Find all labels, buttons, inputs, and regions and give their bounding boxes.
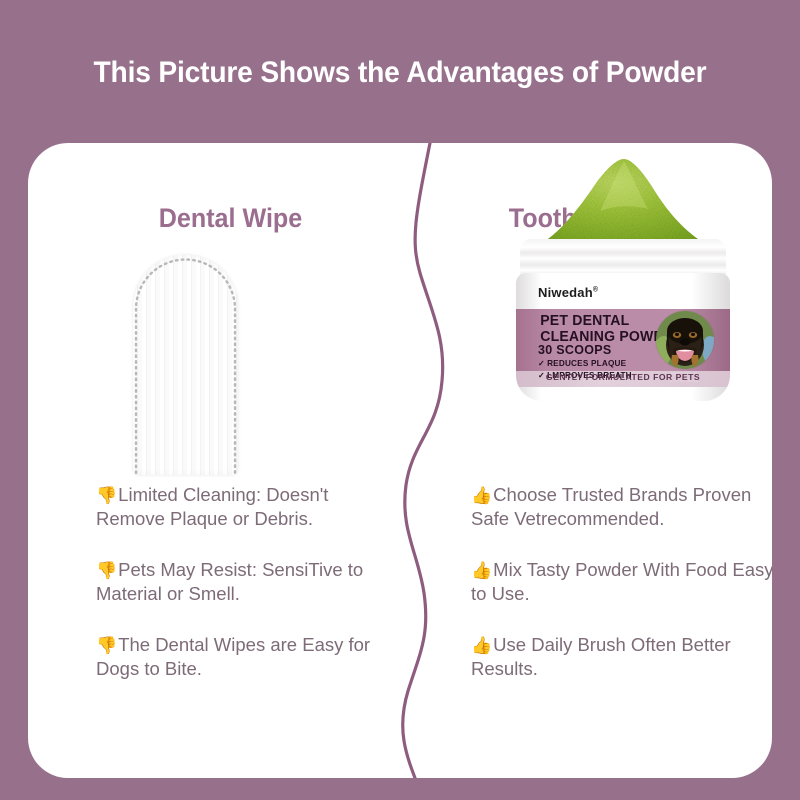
list-item: 👎Limited Cleaning: Doesn't Remove Plaque… bbox=[96, 483, 396, 532]
thumbs-down-icon: 👎 bbox=[96, 486, 117, 505]
column-heading-dental-wipe: Dental Wipe bbox=[107, 203, 353, 234]
registered-mark: ® bbox=[593, 287, 598, 294]
dental-wipe-bead-edge bbox=[133, 255, 238, 475]
thumbs-up-icon: 👍 bbox=[471, 636, 492, 655]
list-item: 👎The Dental Wipes are Easy for Dogs to B… bbox=[96, 633, 396, 682]
dental-wipe-bullet-list: 👎Limited Cleaning: Doesn't Remove Plaque… bbox=[96, 483, 396, 708]
list-item: 👎Pets May Resist: SensiTive to Material … bbox=[96, 558, 396, 607]
green-powder-mound bbox=[528, 153, 718, 249]
bullet-text: Mix Tasty Powder With Food Easy to Use. bbox=[471, 559, 772, 604]
page-title: This Picture Shows the Advantages of Pow… bbox=[24, 56, 776, 90]
bullet-text: Use Daily Brush Often Better Results. bbox=[471, 634, 731, 679]
dog-photo bbox=[656, 311, 714, 369]
bullet-text: The Dental Wipes are Easy for Dogs to Bi… bbox=[96, 634, 370, 679]
product-tagline: GENTLY FORMULATED FOR PETS bbox=[516, 372, 730, 382]
claim-row: ✓REDUCES PLAQUE bbox=[538, 358, 632, 370]
claim-text: REDUCES PLAQUE bbox=[547, 359, 626, 368]
list-item: 👍Mix Tasty Powder With Food Easy to Use. bbox=[471, 558, 772, 607]
brand-name: Niwedah bbox=[538, 285, 593, 300]
thumbs-down-icon: 👎 bbox=[96, 561, 117, 580]
check-icon: ✓ bbox=[538, 359, 545, 368]
jar-body: Niwedah® PET DENTAL CLEANING POWDER 30 S… bbox=[516, 273, 730, 401]
bullet-text: Pets May Resist: SensiTive to Material o… bbox=[96, 559, 363, 604]
bullet-text: Choose Trusted Brands Proven Safe Vetrec… bbox=[471, 484, 751, 529]
comparison-card: Dental Wipe Toothpaste bbox=[28, 143, 772, 778]
product-brand: Niwedah® bbox=[538, 285, 598, 300]
thumbs-up-icon: 👍 bbox=[471, 561, 492, 580]
toothpaste-bullet-list: 👍Choose Trusted Brands Proven Safe Vetre… bbox=[471, 483, 772, 708]
bullet-text: Limited Cleaning: Doesn't Remove Plaque … bbox=[96, 484, 328, 529]
product-scoops: 30 SCOOPS bbox=[538, 343, 612, 357]
thumbs-down-icon: 👎 bbox=[96, 636, 117, 655]
powder-jar-illustration: Niwedah® PET DENTAL CLEANING POWDER 30 S… bbox=[498, 151, 748, 401]
list-item: 👍Use Daily Brush Often Better Results. bbox=[471, 633, 772, 682]
thumbs-up-icon: 👍 bbox=[471, 486, 492, 505]
list-item: 👍Choose Trusted Brands Proven Safe Vetre… bbox=[471, 483, 772, 532]
dental-wipe-illustration bbox=[133, 255, 238, 475]
